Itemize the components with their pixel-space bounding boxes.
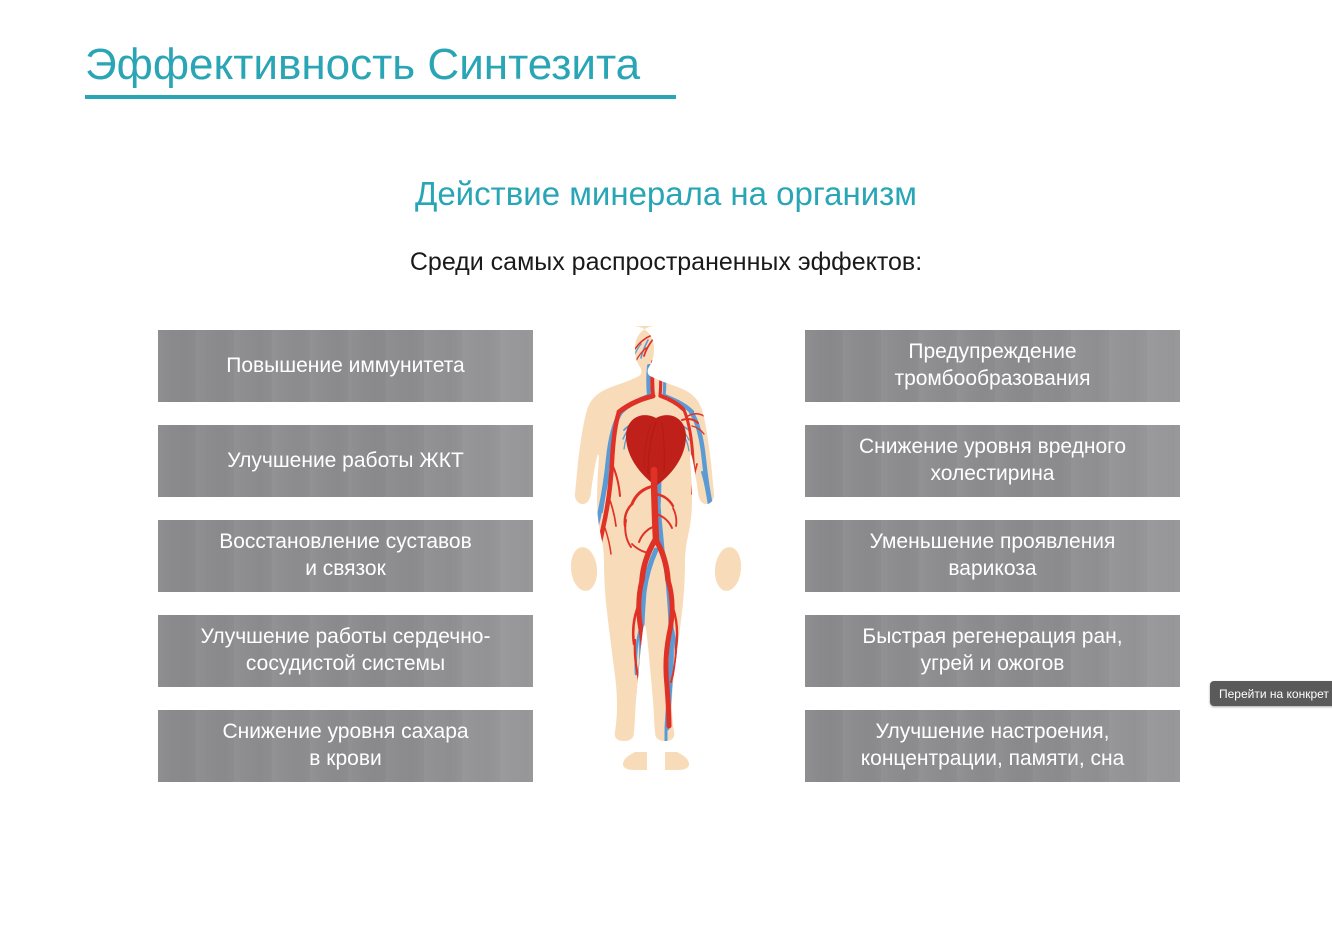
- effect-box-line-1: Улучшение настроения,: [861, 719, 1125, 746]
- page-title-underline: [85, 95, 676, 99]
- effects-column-left: Повышение иммунитета Улучшение работы ЖК…: [158, 330, 533, 782]
- effect-box-text: Восстановление суставов и связок: [219, 529, 472, 583]
- effect-box-text: Улучшение работы ЖКТ: [227, 448, 464, 475]
- effect-box-line-2: сосудистой системы: [201, 651, 491, 678]
- effect-box: Улучшение работы сердечно- сосудистой си…: [158, 615, 533, 687]
- effect-box-line-1: Восстановление суставов: [219, 529, 472, 556]
- section-lead-text: Среди самых распространенных эффектов:: [0, 248, 1332, 277]
- effect-box-line-1: Предупреждение: [894, 339, 1090, 366]
- section-subtitle: Действие минерала на организм: [0, 175, 1332, 213]
- link-tooltip: Перейти на конкрет: [1210, 681, 1332, 706]
- page-title: Эффективность Синтезита: [85, 42, 640, 88]
- effect-box-text: Повышение иммунитета: [226, 353, 465, 380]
- effect-box-text: Предупреждение тромбообразования: [894, 339, 1090, 393]
- effect-box-line-1: Снижение уровня вредного: [859, 434, 1126, 461]
- effects-column-right: Предупреждение тромбообразования Снижени…: [805, 330, 1180, 782]
- effect-box-line-1: Улучшение работы ЖКТ: [227, 448, 464, 475]
- effect-box-line-2: угрей и ожогов: [862, 651, 1122, 678]
- effect-box-line-1: Уменьшение проявления: [870, 529, 1116, 556]
- effect-box-line-1: Снижение уровня сахара: [222, 719, 468, 746]
- effect-box: Улучшение работы ЖКТ: [158, 425, 533, 497]
- effect-box: Быстрая регенерация ран, угрей и ожогов: [805, 615, 1180, 687]
- effect-box-line-2: в крови: [222, 746, 468, 773]
- effect-box: Снижение уровня вредного холестирина: [805, 425, 1180, 497]
- effect-box: Восстановление суставов и связок: [158, 520, 533, 592]
- effect-box-text: Улучшение настроения, концентрации, памя…: [861, 719, 1125, 773]
- effect-box-line-2: варикоза: [870, 556, 1116, 583]
- effect-box-text: Снижение уровня вредного холестирина: [859, 434, 1126, 488]
- effect-box-text: Быстрая регенерация ран, угрей и ожогов: [862, 624, 1122, 678]
- effect-box-text: Снижение уровня сахара в крови: [222, 719, 468, 773]
- effect-box: Улучшение настроения, концентрации, памя…: [805, 710, 1180, 782]
- effect-box-text: Уменьшение проявления варикоза: [870, 529, 1116, 583]
- effect-box: Снижение уровня сахара в крови: [158, 710, 533, 782]
- human-circulatory-system-illustration: [556, 322, 756, 782]
- effect-box: Уменьшение проявления варикоза: [805, 520, 1180, 592]
- effect-box-text: Улучшение работы сердечно- сосудистой си…: [201, 624, 491, 678]
- effect-box-line-1: Улучшение работы сердечно-: [201, 624, 491, 651]
- effect-box-line-2: холестирина: [859, 461, 1126, 488]
- effect-box-line-2: концентрации, памяти, сна: [861, 746, 1125, 773]
- effect-box: Повышение иммунитета: [158, 330, 533, 402]
- link-tooltip-text: Перейти на конкрет: [1219, 687, 1329, 701]
- effect-box-line-1: Быстрая регенерация ран,: [862, 624, 1122, 651]
- effect-box-line-2: и связок: [219, 556, 472, 583]
- effect-box-line-1: Повышение иммунитета: [226, 353, 465, 380]
- effect-box: Предупреждение тромбообразования: [805, 330, 1180, 402]
- effect-box-line-2: тромбообразования: [894, 366, 1090, 393]
